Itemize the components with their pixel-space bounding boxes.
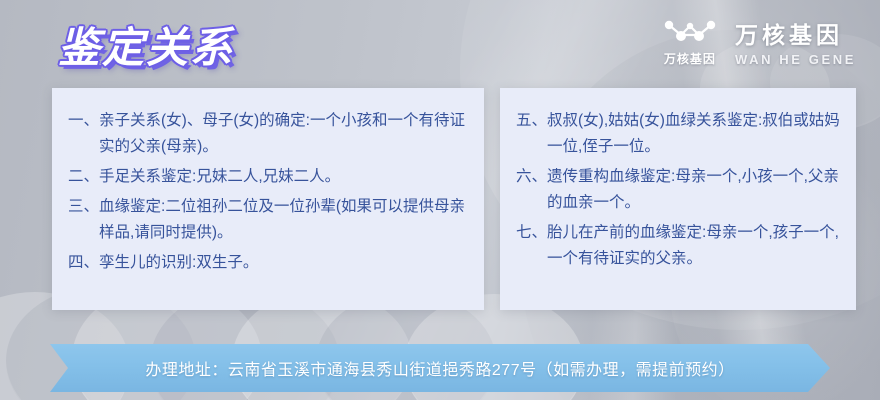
- list-item: 四、 孪生儿的识别:双生子。: [66, 250, 470, 276]
- dna-molecule-icon: [661, 17, 719, 47]
- list-item: 七、 胎儿在产前的血缘鉴定:母亲一个,孩子一个,一个有待证实的父亲。: [514, 220, 842, 272]
- list-item-number: 三、: [66, 194, 99, 220]
- list-item: 三、 血缘鉴定:二位祖孙二位及一位孙辈(如果可以提供母亲样品,请同时提供)。: [66, 194, 470, 246]
- list-item-number: 一、: [66, 108, 99, 134]
- list-item: 二、 手足关系鉴定:兄妹二人,兄妹二人。: [66, 164, 470, 190]
- list-item-number: 五、: [514, 108, 547, 134]
- list-item-text: 叔叔(女),姑姑(女)血绿关系鉴定:叔伯或姑妈一位,侄子一位。: [547, 108, 842, 160]
- brand-name-cn: 万核基因: [735, 16, 843, 50]
- poster-canvas: 鉴定关系: [0, 0, 880, 400]
- list-item-text: 亲子关系(女)、母子(女)的确定:一个小孩和一个有待证实的父亲(母亲)。: [99, 108, 470, 160]
- list-item-text: 胎儿在产前的血缘鉴定:母亲一个,孩子一个,一个有待证实的父亲。: [547, 220, 842, 272]
- list-item: 五、 叔叔(女),姑姑(女)血绿关系鉴定:叔伯或姑妈一位,侄子一位。: [514, 108, 842, 160]
- relationship-list-panel-left: 一、 亲子关系(女)、母子(女)的确定:一个小孩和一个有待证实的父亲(母亲)。 …: [52, 88, 484, 310]
- list-item: 一、 亲子关系(女)、母子(女)的确定:一个小孩和一个有待证实的父亲(母亲)。: [66, 108, 470, 160]
- list-item-number: 七、: [514, 220, 547, 246]
- list-item-number: 四、: [66, 250, 99, 276]
- list-item-text: 血缘鉴定:二位祖孙二位及一位孙辈(如果可以提供母亲样品,请同时提供)。: [99, 194, 470, 246]
- page-title: 鉴定关系: [58, 14, 234, 75]
- brand-mark: 万核基因: [661, 17, 719, 67]
- relationship-list-panel-right: 五、 叔叔(女),姑姑(女)血绿关系鉴定:叔伯或姑妈一位,侄子一位。 六、 遗传…: [500, 88, 856, 310]
- brand-wordmark: 万核基因 WAN HE GENE: [735, 16, 856, 67]
- list-item-number: 六、: [514, 164, 547, 190]
- list-item-text: 孪生儿的识别:双生子。: [99, 250, 470, 276]
- list-item-text: 遗传重构血缘鉴定:母亲一个,小孩一个,父亲的血亲一个。: [547, 164, 842, 216]
- brand-mark-label: 万核基因: [664, 50, 716, 67]
- brand-name-en: WAN HE GENE: [735, 52, 856, 67]
- address-text: 办理地址：云南省玉溪市通海县秀山街道挹秀路277号（如需办理，需提前预约）: [145, 356, 734, 380]
- list-item-text: 手足关系鉴定:兄妹二人,兄妹二人。: [99, 164, 470, 190]
- address-banner-ribbon: 办理地址：云南省玉溪市通海县秀山街道挹秀路277号（如需办理，需提前预约）: [50, 344, 830, 392]
- list-item: 六、 遗传重构血缘鉴定:母亲一个,小孩一个,父亲的血亲一个。: [514, 164, 842, 216]
- brand-logo: 万核基因 万核基因 WAN HE GENE: [661, 16, 856, 67]
- list-item-number: 二、: [66, 164, 99, 190]
- address-banner: 办理地址：云南省玉溪市通海县秀山街道挹秀路277号（如需办理，需提前预约）: [0, 344, 880, 392]
